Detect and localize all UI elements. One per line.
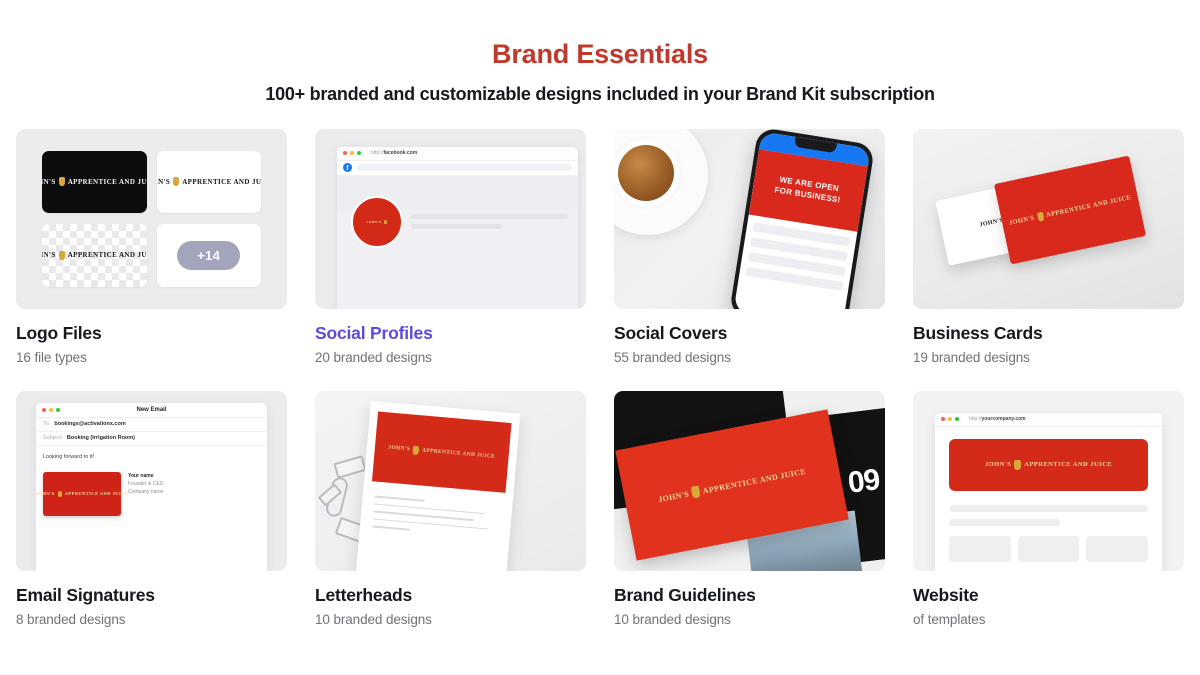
shield-crest-icon [59, 251, 65, 260]
wordmark: JOHN'S APPRENTICE AND JUICE [985, 460, 1112, 470]
wordmark: JOHN'S APPRENTICE AND JUICE [42, 251, 147, 260]
profile-text-placeholder [411, 214, 568, 234]
card-subtitle: of templates [913, 612, 1184, 627]
wordmark-part1: JOHN'S [42, 178, 56, 186]
placeholder-line [949, 519, 1060, 526]
wordmark: JOHN'S APPRENTICE AND JUICE [157, 177, 262, 186]
wordmark-part2: APPRENTICE AND JUICE [1024, 461, 1112, 468]
card-subtitle: 8 branded designs [16, 612, 287, 627]
website-hero-banner: JOHN'S APPRENTICE AND JUICE [949, 439, 1148, 491]
wordmark-part1: JOHN'S [36, 491, 55, 496]
card-subtitle: 10 branded designs [315, 612, 586, 627]
card-brand-guidelines[interactable]: 09 JOHN'S APPRENTICE AND JUICE Brand Gui… [614, 391, 885, 627]
binder-clip-icon [333, 455, 366, 479]
browser-url: http://facebook.com [371, 150, 417, 156]
card-title[interactable]: Letterheads [315, 585, 586, 606]
card-title[interactable]: Logo Files [16, 323, 287, 344]
browser-titlebar: http://facebook.com [337, 147, 578, 161]
thumbnail-business-cards[interactable]: JOHN'S JOHN'S APPRENTICE AND JUICE [913, 129, 1184, 309]
brand-essentials-page: Brand Essentials 100+ branded and custom… [0, 0, 1200, 675]
shield-crest-icon [173, 177, 179, 186]
card-letterheads[interactable]: JOHN'S APPRENTICE AND JUICE Letterhead [315, 391, 586, 627]
logo-tile-transparent[interactable]: JOHN'S APPRENTICE AND JUICE [42, 224, 147, 287]
signature-role: Founder & CEO [128, 480, 164, 488]
wordmark-part2: APPRENTICE AND JUICE [182, 178, 261, 186]
shield-crest-icon [1014, 460, 1021, 470]
card-subtitle: 16 file types [16, 350, 287, 365]
card-title[interactable]: Brand Guidelines [614, 585, 885, 606]
composer-title: New Email [36, 407, 267, 413]
card-email-signatures[interactable]: New Email To: bookings@activationx.com S… [16, 391, 287, 627]
logo-tile-white[interactable]: JOHN'S APPRENTICE AND JUICE [157, 151, 262, 214]
browser-url: http://yourcompany.com [969, 416, 1026, 422]
subject-value: Booking (Irrigation Room) [67, 435, 135, 441]
brand-asset-grid: JOHN'S APPRENTICE AND JUICE JOHN'S APPRE… [16, 129, 1184, 627]
to-field[interactable]: To: bookings@activationx.com [36, 418, 267, 432]
thumbnail-website[interactable]: http://yourcompany.com JOHN'S APPRENTICE… [913, 391, 1184, 571]
browser-titlebar: http://yourcompany.com [935, 413, 1162, 427]
card-title[interactable]: Website [913, 585, 1184, 606]
email-signature-block: JOHN'S APPRENTICE AND JUICE Your name Fo… [43, 472, 260, 516]
card-logo-files[interactable]: JOHN'S APPRENTICE AND JUICE JOHN'S APPRE… [16, 129, 287, 365]
wordmark-part2: APPRENTICE AND JUICE [1045, 193, 1131, 218]
card-title[interactable]: Email Signatures [16, 585, 287, 606]
letterhead-header-band: JOHN'S APPRENTICE AND JUICE [372, 411, 512, 492]
wordmark-part2: APPRENTICE AND JUICE [422, 447, 496, 459]
maximize-dot-icon [955, 417, 959, 421]
card-subtitle: 10 branded designs [614, 612, 885, 627]
signature-name: Your name [128, 473, 153, 479]
placeholder-card [1086, 536, 1148, 562]
card-subtitle: 55 branded designs [614, 350, 885, 365]
page-number: 09 [846, 463, 881, 501]
shield-crest-icon [1036, 211, 1044, 221]
url-prefix: http:// [371, 150, 384, 156]
wordmark: JOHN'S APPRENTICE AND JUICE [388, 443, 496, 461]
shield-crest-icon [58, 491, 62, 497]
url-domain: facebook.com [384, 150, 418, 156]
wordmark-part1: JOHN'S [1008, 214, 1035, 226]
browser-mockup: http://yourcompany.com JOHN'S APPRENTICE… [935, 413, 1162, 571]
card-website[interactable]: http://yourcompany.com JOHN'S APPRENTICE… [913, 391, 1184, 627]
website-text-placeholder [949, 505, 1148, 526]
wordmark-part2: APPRENTICE AND JUICE [702, 466, 807, 495]
letterhead-body-lines [372, 495, 500, 538]
email-body[interactable]: Looking forward to it! JOHN'S APPRENTICE… [36, 446, 267, 516]
card-title[interactable]: Business Cards [913, 323, 1184, 344]
signature-logo-card: JOHN'S APPRENTICE AND JUICE [43, 472, 121, 516]
thumbnail-social-covers[interactable]: WE ARE OPENFOR BUSINESS! [614, 129, 885, 309]
email-body-text: Looking forward to it! [43, 454, 260, 460]
url-domain: yourcompany.com [982, 416, 1026, 422]
placeholder-line [949, 505, 1148, 512]
signature-company: Company name [128, 488, 164, 496]
wordmark: JOHN'S APPRENTICE AND JUICE [657, 464, 807, 504]
coffee-liquid-shape [618, 145, 674, 201]
placeholder-card [949, 536, 1011, 562]
thumbnail-social-profiles[interactable]: http://facebook.com f JOHN'S [315, 129, 586, 309]
card-subtitle: 20 branded designs [315, 350, 586, 365]
wordmark-part1: JOHN'S [657, 489, 689, 504]
shield-crest-icon [413, 445, 420, 454]
wordmark: JOHN'S APPRENTICE AND JUICE [42, 177, 147, 186]
to-label: To: [43, 421, 50, 427]
card-business-cards[interactable]: JOHN'S JOHN'S APPRENTICE AND JUICE Busin… [913, 129, 1184, 365]
card-title[interactable]: Social Profiles [315, 323, 586, 344]
wordmark: JOHN'S [367, 220, 388, 224]
minimize-dot-icon [948, 417, 952, 421]
to-value: bookings@activationx.com [54, 421, 125, 427]
cover-banner-text: WE ARE OPENFOR BUSINESS! [774, 174, 843, 206]
wordmark-part1: JOHN'S [979, 217, 1004, 228]
subject-label: Subject: [43, 435, 63, 441]
wordmark: JOHN'S APPRENTICE AND JUICE [1008, 192, 1132, 227]
card-social-covers[interactable]: WE ARE OPENFOR BUSINESS! Social Covers 5… [614, 129, 885, 365]
url-prefix: http:// [969, 416, 982, 422]
wordmark-part2: APPRENTICE AND JUICE [68, 178, 147, 186]
facebook-logo-icon: f [343, 163, 352, 172]
placeholder-line [411, 214, 568, 219]
shield-crest-icon [59, 177, 65, 186]
email-composer-mockup: New Email To: bookings@activationx.com S… [36, 403, 267, 571]
logo-tile-grid: JOHN'S APPRENTICE AND JUICE JOHN'S APPRE… [16, 129, 287, 309]
placeholder-line [411, 224, 502, 229]
facebook-profile-body: JOHN'S [337, 176, 578, 309]
wordmark-part2: APPRENTICE AND JUICE [68, 251, 147, 259]
thumbnail-brand-guidelines[interactable]: 09 JOHN'S APPRENTICE AND JUICE [614, 391, 885, 571]
logo-tile-dark[interactable]: JOHN'S APPRENTICE AND JUICE [42, 151, 147, 214]
wordmark-part1: JOHN'S [157, 178, 171, 186]
search-input[interactable] [357, 164, 572, 171]
logo-tile-more[interactable]: +14 [157, 224, 262, 287]
page-header: Brand Essentials 100+ branded and custom… [0, 0, 1200, 105]
close-dot-icon [941, 417, 945, 421]
maximize-dot-icon [357, 151, 361, 155]
wordmark-part1: JOHN'S [985, 461, 1011, 468]
letterhead-paper: JOHN'S APPRENTICE AND JUICE [356, 400, 521, 570]
card-subtitle: 19 branded designs [913, 350, 1184, 365]
signature-details: Your name Founder & CEO Company name [128, 472, 164, 497]
page-title: Brand Essentials [0, 40, 1200, 70]
shield-crest-icon [691, 485, 701, 498]
wordmark: JOHN'S APPRENTICE AND JUICE [36, 491, 128, 497]
composer-titlebar: New Email [36, 403, 267, 418]
website-tile-placeholders [949, 536, 1148, 562]
subject-field[interactable]: Subject: Booking (Irrigation Room) [36, 432, 267, 446]
phone-screen: WE ARE OPENFOR BUSINESS! [733, 131, 870, 308]
more-count-badge: +14 [177, 241, 240, 270]
browser-mockup: http://facebook.com f JOHN'S [337, 147, 578, 309]
card-title[interactable]: Social Covers [614, 323, 885, 344]
wordmark-part1: JOHN'S [367, 220, 382, 224]
thumbnail-logo-files[interactable]: JOHN'S APPRENTICE AND JUICE JOHN'S APPRE… [16, 129, 287, 309]
avatar: JOHN'S [351, 196, 403, 248]
thumbnail-letterheads[interactable]: JOHN'S APPRENTICE AND JUICE [315, 391, 586, 571]
wordmark-part2: APPRENTICE AND JUICE [65, 491, 129, 496]
placeholder-line [375, 495, 425, 501]
card-social-profiles[interactable]: http://facebook.com f JOHN'S [315, 129, 586, 365]
placeholder-card [1018, 536, 1080, 562]
shield-crest-icon [384, 220, 387, 224]
thumbnail-email-signatures[interactable]: New Email To: bookings@activationx.com S… [16, 391, 287, 571]
facebook-navbar: f [337, 161, 578, 176]
wordmark-part1: JOHN'S [42, 251, 56, 259]
close-dot-icon [343, 151, 347, 155]
wordmark-part1: JOHN'S [388, 444, 410, 452]
minimize-dot-icon [350, 151, 354, 155]
page-subtitle: 100+ branded and customizable designs in… [0, 84, 1200, 105]
placeholder-line [372, 525, 410, 530]
